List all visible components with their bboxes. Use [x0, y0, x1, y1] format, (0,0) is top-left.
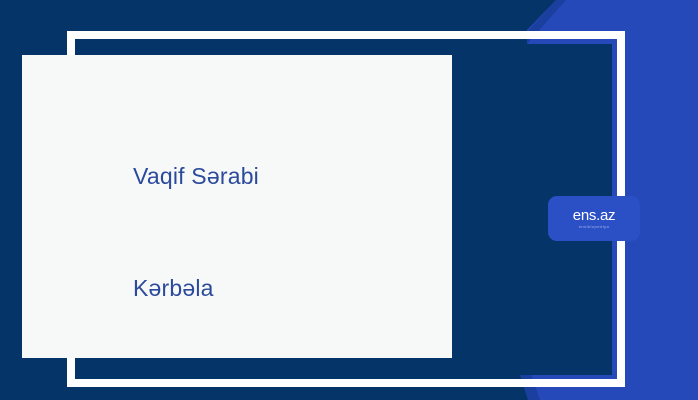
ens-az-logo-badge[interactable]: ens.az ensiklopediya: [548, 196, 640, 241]
logo-tagline: ensiklopediya: [579, 225, 610, 229]
content-panel: Vaqif Sərabi Kərbəla: [22, 55, 452, 358]
page-subtitle: Kərbəla: [133, 275, 214, 302]
logo-wordmark: ens.az: [573, 208, 615, 223]
slide-canvas: Vaqif Sərabi Kərbəla ens.az ensiklopediy…: [0, 0, 698, 400]
page-title: Vaqif Sərabi: [133, 163, 259, 190]
